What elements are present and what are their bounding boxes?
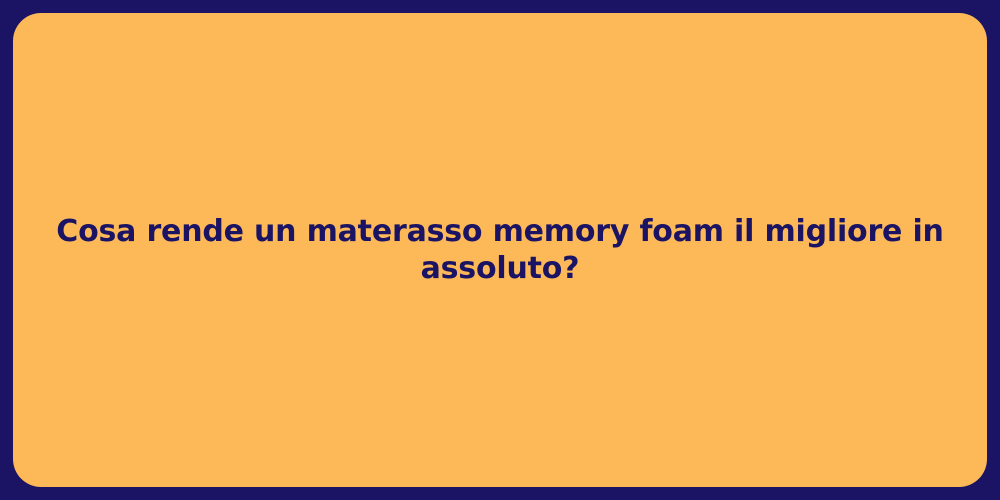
content-card: Cosa rende un materasso memory foam il m… bbox=[13, 13, 987, 487]
page-frame: Cosa rende un materasso memory foam il m… bbox=[0, 0, 1000, 500]
page-title: Cosa rende un materasso memory foam il m… bbox=[47, 213, 953, 288]
